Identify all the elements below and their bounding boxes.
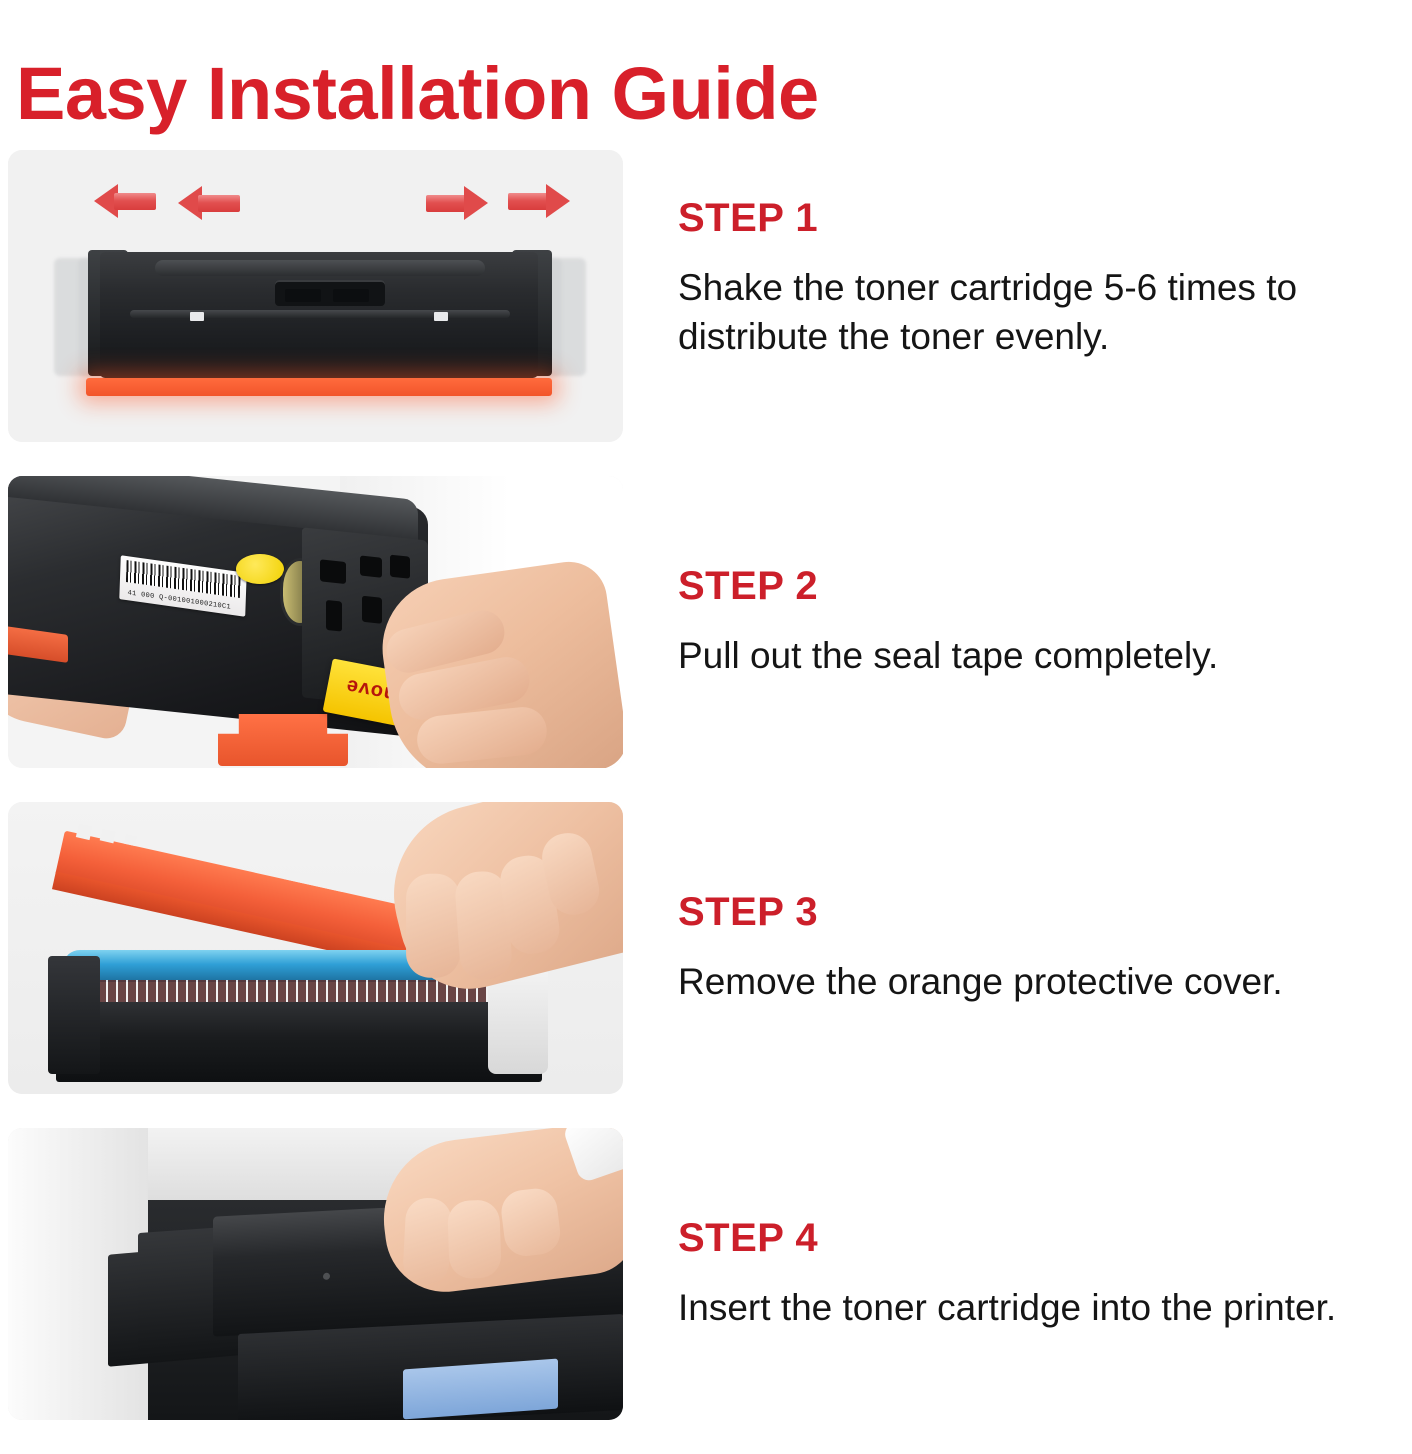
shake-arrow-right-icon <box>508 184 570 218</box>
step-row: 41 000 Q-001001000210C1 Remove <box>0 476 1412 768</box>
step-2-image-panel: 41 000 Q-001001000210C1 Remove <box>8 476 623 768</box>
step-row: STEP 1 Shake the toner cartridge 5-6 tim… <box>0 150 1412 442</box>
cartridge-vent <box>320 559 346 584</box>
shake-arrow-right-icon <box>426 186 488 220</box>
finger <box>402 1197 452 1285</box>
step-4-text-block: STEP 4 Insert the toner cartridge into t… <box>678 1128 1402 1420</box>
cartridge-body <box>100 252 538 378</box>
step-2-text-block: STEP 2 Pull out the seal tape completely… <box>678 476 1402 768</box>
cartridge-ridge <box>130 310 510 318</box>
page-title: Easy Installation Guide <box>16 52 819 136</box>
step-row: STEP 3 Remove the orange protective cove… <box>0 802 1412 1094</box>
installation-steps-list: STEP 1 Shake the toner cartridge 5-6 tim… <box>0 150 1412 1454</box>
cartridge-end-cap <box>48 956 100 1074</box>
step-heading: STEP 4 <box>678 1216 1402 1261</box>
step-heading: STEP 1 <box>678 196 1402 241</box>
step-heading: STEP 3 <box>678 890 1402 935</box>
cartridge-tab <box>190 312 204 321</box>
cartridge-vent <box>326 600 342 632</box>
cartridge-dot <box>323 1273 330 1280</box>
step-description: Pull out the seal tape completely. <box>678 631 1402 680</box>
cartridge-vent <box>362 596 382 624</box>
step-3-text-block: STEP 3 Remove the orange protective cove… <box>678 802 1402 1094</box>
step-description: Shake the toner cartridge 5-6 times to d… <box>678 263 1402 361</box>
cartridge-tab <box>434 312 448 321</box>
step-1-text-block: STEP 1 Shake the toner cartridge 5-6 tim… <box>678 150 1402 488</box>
step-description: Insert the toner cartridge into the prin… <box>678 1283 1402 1332</box>
shake-arrow-left-icon <box>94 184 156 218</box>
step-row: STEP 4 Insert the toner cartridge into t… <box>0 1128 1412 1420</box>
cartridge-top-roller <box>155 260 485 276</box>
cartridge-vent <box>360 555 382 577</box>
cover-notch <box>124 834 138 846</box>
shake-arrow-left-icon <box>178 186 240 220</box>
orange-protective-base <box>86 378 552 396</box>
step-4-image-panel <box>8 1128 623 1420</box>
finger <box>406 874 460 978</box>
step-1-image-panel <box>8 150 623 442</box>
yellow-cap <box>236 554 284 584</box>
finger <box>447 1199 502 1279</box>
step-heading: STEP 2 <box>678 564 1402 609</box>
cartridge-handle <box>275 280 385 306</box>
cover-notch <box>100 829 116 844</box>
step-description: Remove the orange protective cover. <box>678 957 1402 1006</box>
cartridge-body <box>56 1002 542 1082</box>
cover-notch <box>76 823 93 840</box>
sleeve-cuff <box>562 1128 623 1183</box>
finger <box>499 1186 563 1258</box>
toner-cartridge-graphic <box>60 250 580 390</box>
cartridge-vent <box>390 555 410 579</box>
step-3-image-panel <box>8 802 623 1094</box>
